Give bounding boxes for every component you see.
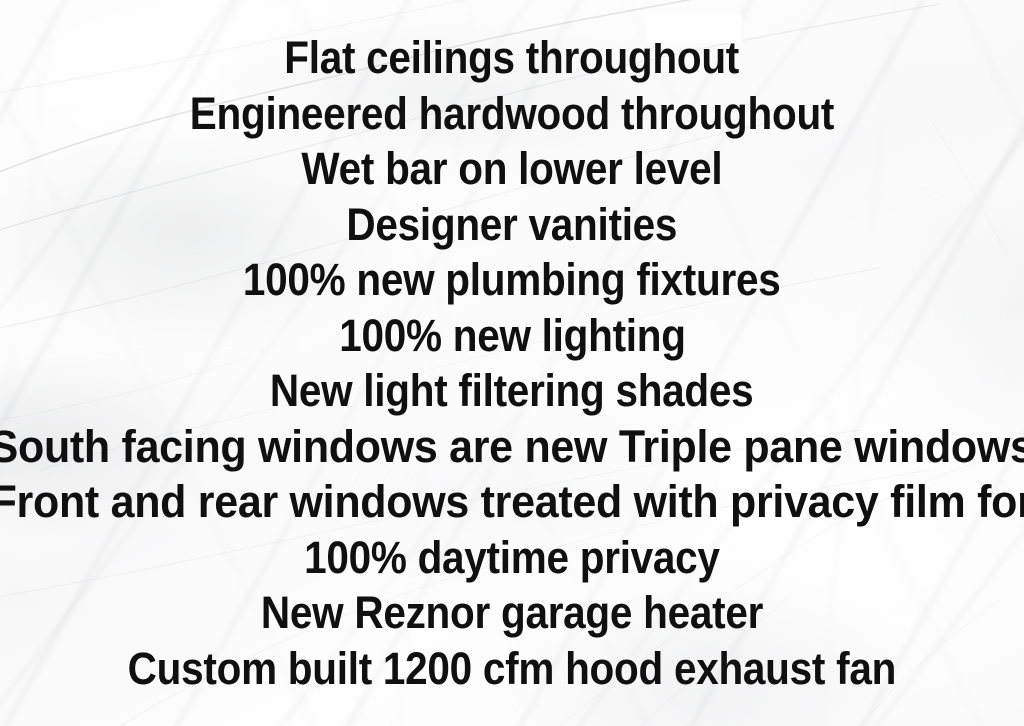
feature-line: Custom built 1200 cfm hood exhaust fan (128, 641, 896, 697)
feature-line: 100% new lighting (339, 308, 685, 364)
feature-line: New light filtering shades (270, 363, 754, 419)
feature-line: South facing windows are new Triple pane… (0, 419, 1024, 475)
feature-line: Engineered hardwood throughout (190, 86, 834, 142)
feature-line: Front and rear windows treated with priv… (0, 474, 1024, 530)
feature-list-slide: Flat ceilings throughout Engineered hard… (0, 0, 1024, 726)
feature-line: 100% new plumbing fixtures (243, 252, 781, 308)
feature-line: New Reznor garage heater (261, 585, 763, 641)
feature-list: Flat ceilings throughout Engineered hard… (0, 0, 1024, 726)
feature-line: 100% daytime privacy (304, 530, 720, 586)
feature-line: Wet bar on lower level (302, 141, 723, 197)
feature-line: Designer vanities (347, 197, 678, 253)
blank-redaction-patch (647, 14, 742, 43)
